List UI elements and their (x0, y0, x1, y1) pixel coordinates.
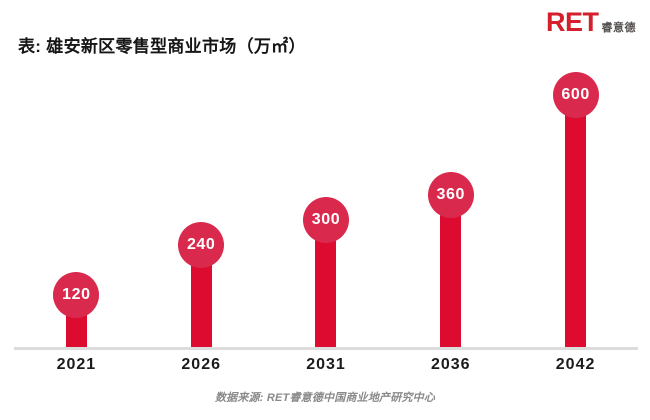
x-axis-line (14, 347, 638, 350)
value-bubble: 120 (53, 272, 99, 318)
bar-series: 120240300360600 (14, 72, 638, 347)
chart-column: 300 (264, 72, 389, 347)
value-bubble: 240 (178, 222, 224, 268)
chart-header: 表: 雄安新区零售型商业市场（万㎡） RET 睿意德 (0, 0, 650, 72)
lollipop-bar[interactable]: 360 (440, 172, 461, 347)
chart-column: 120 (14, 72, 139, 347)
value-bubble: 600 (553, 72, 599, 118)
value-label: 300 (312, 212, 341, 228)
lollipop-bar[interactable]: 120 (66, 272, 87, 347)
bar-stem (565, 100, 586, 347)
page-title: 表: 雄安新区零售型商业市场（万㎡） (18, 38, 306, 55)
x-axis-tick-label: 2026 (139, 352, 264, 378)
bar-stem (440, 200, 461, 347)
chart-column: 360 (388, 72, 513, 347)
source-note: 数据来源: RET睿意德中国商业地产研究中心 (215, 392, 435, 404)
bar-stem (315, 225, 336, 347)
logo-text-cn: 睿意德 (602, 23, 637, 36)
x-axis-labels: 20212026203120362042 (14, 352, 638, 378)
logo-text-ret: RET (546, 9, 599, 36)
value-bubble: 300 (303, 197, 349, 243)
value-label: 240 (187, 237, 216, 253)
chart-plot-area: 120240300360600 (0, 72, 650, 350)
lollipop-bar[interactable]: 240 (191, 222, 212, 347)
value-label: 120 (62, 287, 91, 303)
brand-logo: RET 睿意德 (546, 9, 636, 36)
x-axis-tick-label: 2031 (264, 352, 389, 378)
chart-column: 240 (139, 72, 264, 347)
value-label: 600 (561, 87, 590, 103)
x-axis-tick-label: 2036 (388, 352, 513, 378)
x-axis-tick-label: 2021 (14, 352, 139, 378)
chart-footer: 数据来源: RET睿意德中国商业地产研究中心 (0, 388, 650, 406)
x-axis-tick-label: 2042 (513, 352, 638, 378)
chart-column: 600 (513, 72, 638, 347)
lollipop-bar[interactable]: 300 (315, 197, 336, 347)
value-bubble: 360 (428, 172, 474, 218)
lollipop-bar[interactable]: 600 (565, 72, 586, 347)
value-label: 360 (437, 187, 466, 203)
